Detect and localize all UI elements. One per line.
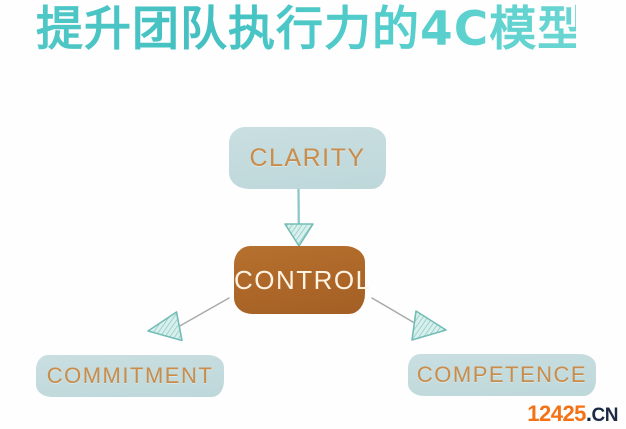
node-control-label: CONTROL (234, 265, 365, 296)
page-title: 提升团队执行力的4C模型 (36, 1, 576, 59)
node-commitment[interactable]: COMMITMENT (36, 355, 224, 397)
node-clarity[interactable]: CLARITY (229, 127, 386, 189)
node-clarity-label: CLARITY (229, 144, 386, 173)
watermark: 12425.CN (527, 401, 618, 427)
slide-canvas: 提升团队执行力的4C模型 CLARITY CONTROL (0, 0, 626, 429)
node-competence-label: COMPETENCE (408, 362, 596, 388)
arrow-clarity-to-control (285, 189, 313, 246)
node-competence[interactable]: COMPETENCE (408, 354, 596, 396)
watermark-tld: CN (592, 405, 618, 426)
arrow-control-to-commitment (148, 298, 229, 341)
arrow-control-to-competence (372, 298, 446, 340)
node-control[interactable]: CONTROL (234, 246, 365, 314)
node-commitment-label: COMMITMENT (36, 363, 224, 389)
watermark-number: 12425 (527, 401, 586, 426)
